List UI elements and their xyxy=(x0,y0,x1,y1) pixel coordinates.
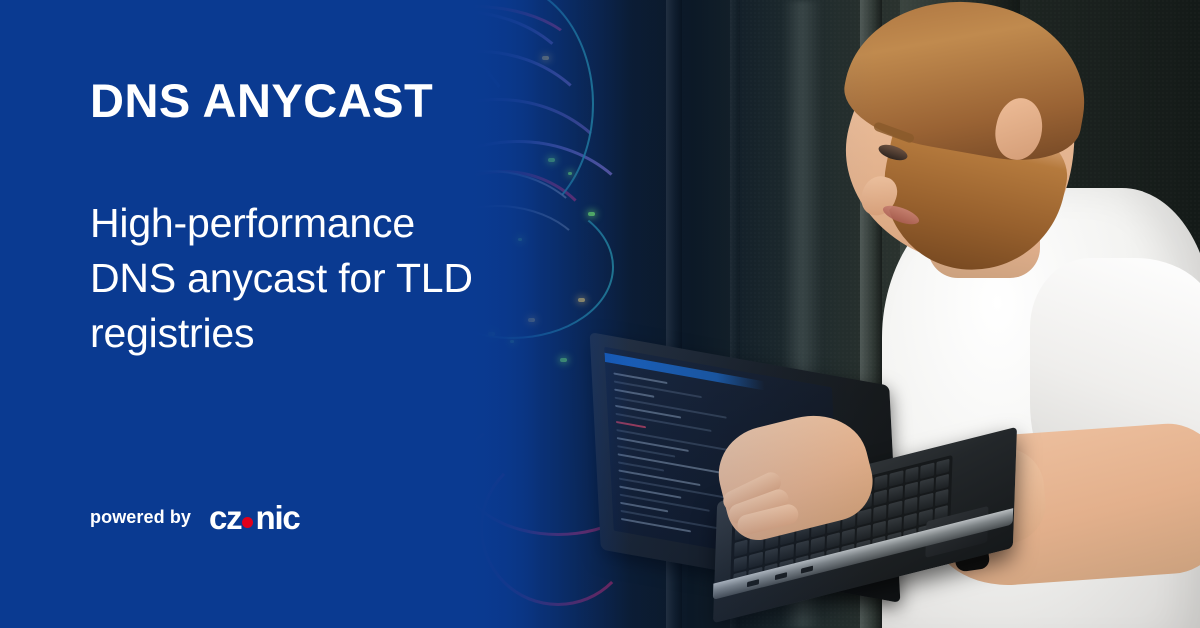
powered-by-label: powered by xyxy=(90,507,191,528)
server-room-photo xyxy=(430,0,1200,628)
cznic-logo-dot-icon xyxy=(242,517,253,528)
powered-by-block: powered by cz nic xyxy=(90,501,300,534)
laptop-port xyxy=(747,579,759,587)
cznic-logo-cz: cz xyxy=(209,501,241,534)
page-subtitle: High-performance DNS anycast for TLD reg… xyxy=(90,196,480,361)
laptop-port xyxy=(775,572,787,580)
dns-anycast-banner: DNS ANYCAST High-performance DNS anycast… xyxy=(0,0,1200,628)
cznic-logo[interactable]: cz nic xyxy=(209,501,300,534)
cznic-logo-nic: nic xyxy=(255,501,299,534)
laptop-port xyxy=(801,566,813,574)
page-title: DNS ANYCAST xyxy=(90,77,433,124)
